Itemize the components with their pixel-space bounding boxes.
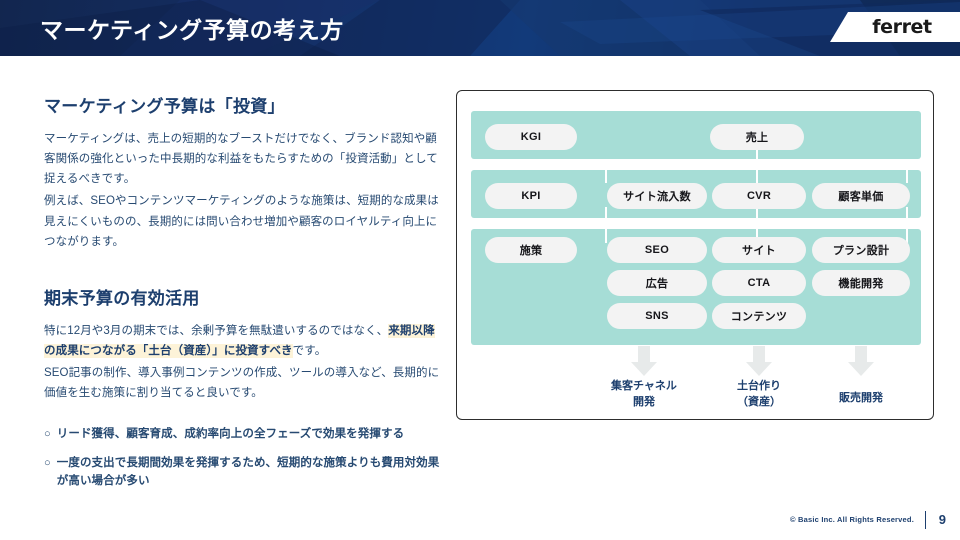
list-item: ○ リード獲得、顧客育成、成約率向上の全フェーズで効果を発揮する <box>44 425 444 443</box>
connector-seo-down <box>605 207 607 243</box>
section-1-paragraph-2: 例えば、SEOやコンテンツマーケティングのような施策は、短期的な成果は見えにくい… <box>44 191 444 251</box>
section-1-heading: マーケティング予算は「投資」 <box>44 92 444 117</box>
down-arrow-icon-3 <box>848 346 874 376</box>
pill-shisaku[interactable]: 施策 <box>485 237 577 263</box>
outcome-label-1-line2: 開発 <box>589 395 699 411</box>
pill-site-inflow[interactable]: サイト流入数 <box>607 183 707 209</box>
kgi-kpi-measures-diagram: KGI 売上 KPI サイト流入数 CVR 顧客単価 施策 SEO サイト プラ… <box>456 90 934 420</box>
section-2-text-post: です。 <box>293 345 327 357</box>
pill-kokyaku-tanka[interactable]: 顧客単価 <box>812 183 910 209</box>
pill-kpi[interactable]: KPI <box>485 183 577 209</box>
down-arrow-icon-1 <box>631 346 657 376</box>
connector-site-inflow-down <box>605 159 607 183</box>
section-2-heading: 期末予算の有効活用 <box>44 284 444 309</box>
bullet-list: ○ リード獲得、顧客育成、成約率向上の全フェーズで効果を発揮する ○ 一度の支出… <box>44 425 444 490</box>
section-2-paragraph-2: SEO記事の制作、導入事例コンテンツの作成、ツールの導入など、長期的に価値を生む… <box>44 363 444 403</box>
logo-text: ferret <box>858 16 931 38</box>
page-number: 9 <box>939 512 946 527</box>
outcome-label-2-line2: （資産） <box>704 395 814 411</box>
page-title: マーケティング予算の考え方 <box>40 11 344 45</box>
pill-contents[interactable]: コンテンツ <box>712 303 806 329</box>
section-spacer <box>44 254 444 284</box>
pill-plan-design[interactable]: プラン設計 <box>812 237 910 263</box>
pill-koukoku[interactable]: 広告 <box>607 270 707 296</box>
connector-cvr-down <box>756 159 758 183</box>
connector-plan-down <box>906 207 908 243</box>
pill-cvr[interactable]: CVR <box>712 183 806 209</box>
list-item: ○ 一度の支出で長期間効果を発揮するため、短期的な施策よりも費用対効果が高い場合… <box>44 454 444 491</box>
pill-cta[interactable]: CTA <box>712 270 806 296</box>
outcome-label-2: 土台作り （資産） <box>704 379 814 411</box>
outcome-label-3: 販売開発 <box>806 391 916 407</box>
outcome-label-1: 集客チャネル 開発 <box>589 379 699 411</box>
copyright-text: © Basic Inc. All Rights Reserved. <box>790 515 914 524</box>
slide-header: マーケティング予算の考え方 ferret <box>0 0 960 56</box>
down-arrow-icon-2 <box>746 346 772 376</box>
bullet-text: リード獲得、顧客育成、成約率向上の全フェーズで効果を発揮する <box>57 425 444 443</box>
circle-marker-icon: ○ <box>44 425 51 443</box>
pill-kinou-kaihatsu[interactable]: 機能開発 <box>812 270 910 296</box>
pill-site[interactable]: サイト <box>712 237 806 263</box>
footer-divider <box>925 511 926 529</box>
section-1-paragraph-1: マーケティングは、売上の短期的なブーストだけでなく、ブランド認知や顧客関係の強化… <box>44 129 444 189</box>
left-content-column: マーケティング予算は「投資」 マーケティングは、売上の短期的なブーストだけでなく… <box>44 92 444 500</box>
pill-seo[interactable]: SEO <box>607 237 707 263</box>
outcome-label-2-line1: 土台作り <box>704 379 814 395</box>
pill-kgi[interactable]: KGI <box>485 124 577 150</box>
connector-kokyaku-tanka-down <box>906 159 908 183</box>
circle-marker-icon: ○ <box>44 454 51 472</box>
bullet-text: 一度の支出で長期間効果を発揮するため、短期的な施策よりも費用対効果が高い場合が多… <box>57 454 444 491</box>
outcome-label-3-line1: 販売開発 <box>806 391 916 407</box>
section-2-paragraph-1: 特に12月や3月の期末では、余剰予算を無駄遣いするのではなく、来期以降の成果につ… <box>44 321 444 361</box>
pill-sns[interactable]: SNS <box>607 303 707 329</box>
section-2-text-pre: 特に12月や3月の期末では、余剰予算を無駄遣いするのではなく、 <box>44 325 388 337</box>
outcome-label-1-line1: 集客チャネル <box>589 379 699 395</box>
pill-uriage[interactable]: 売上 <box>710 124 804 150</box>
ferret-logo: ferret <box>830 12 960 42</box>
slide-footer: © Basic Inc. All Rights Reserved. 9 <box>0 506 960 540</box>
